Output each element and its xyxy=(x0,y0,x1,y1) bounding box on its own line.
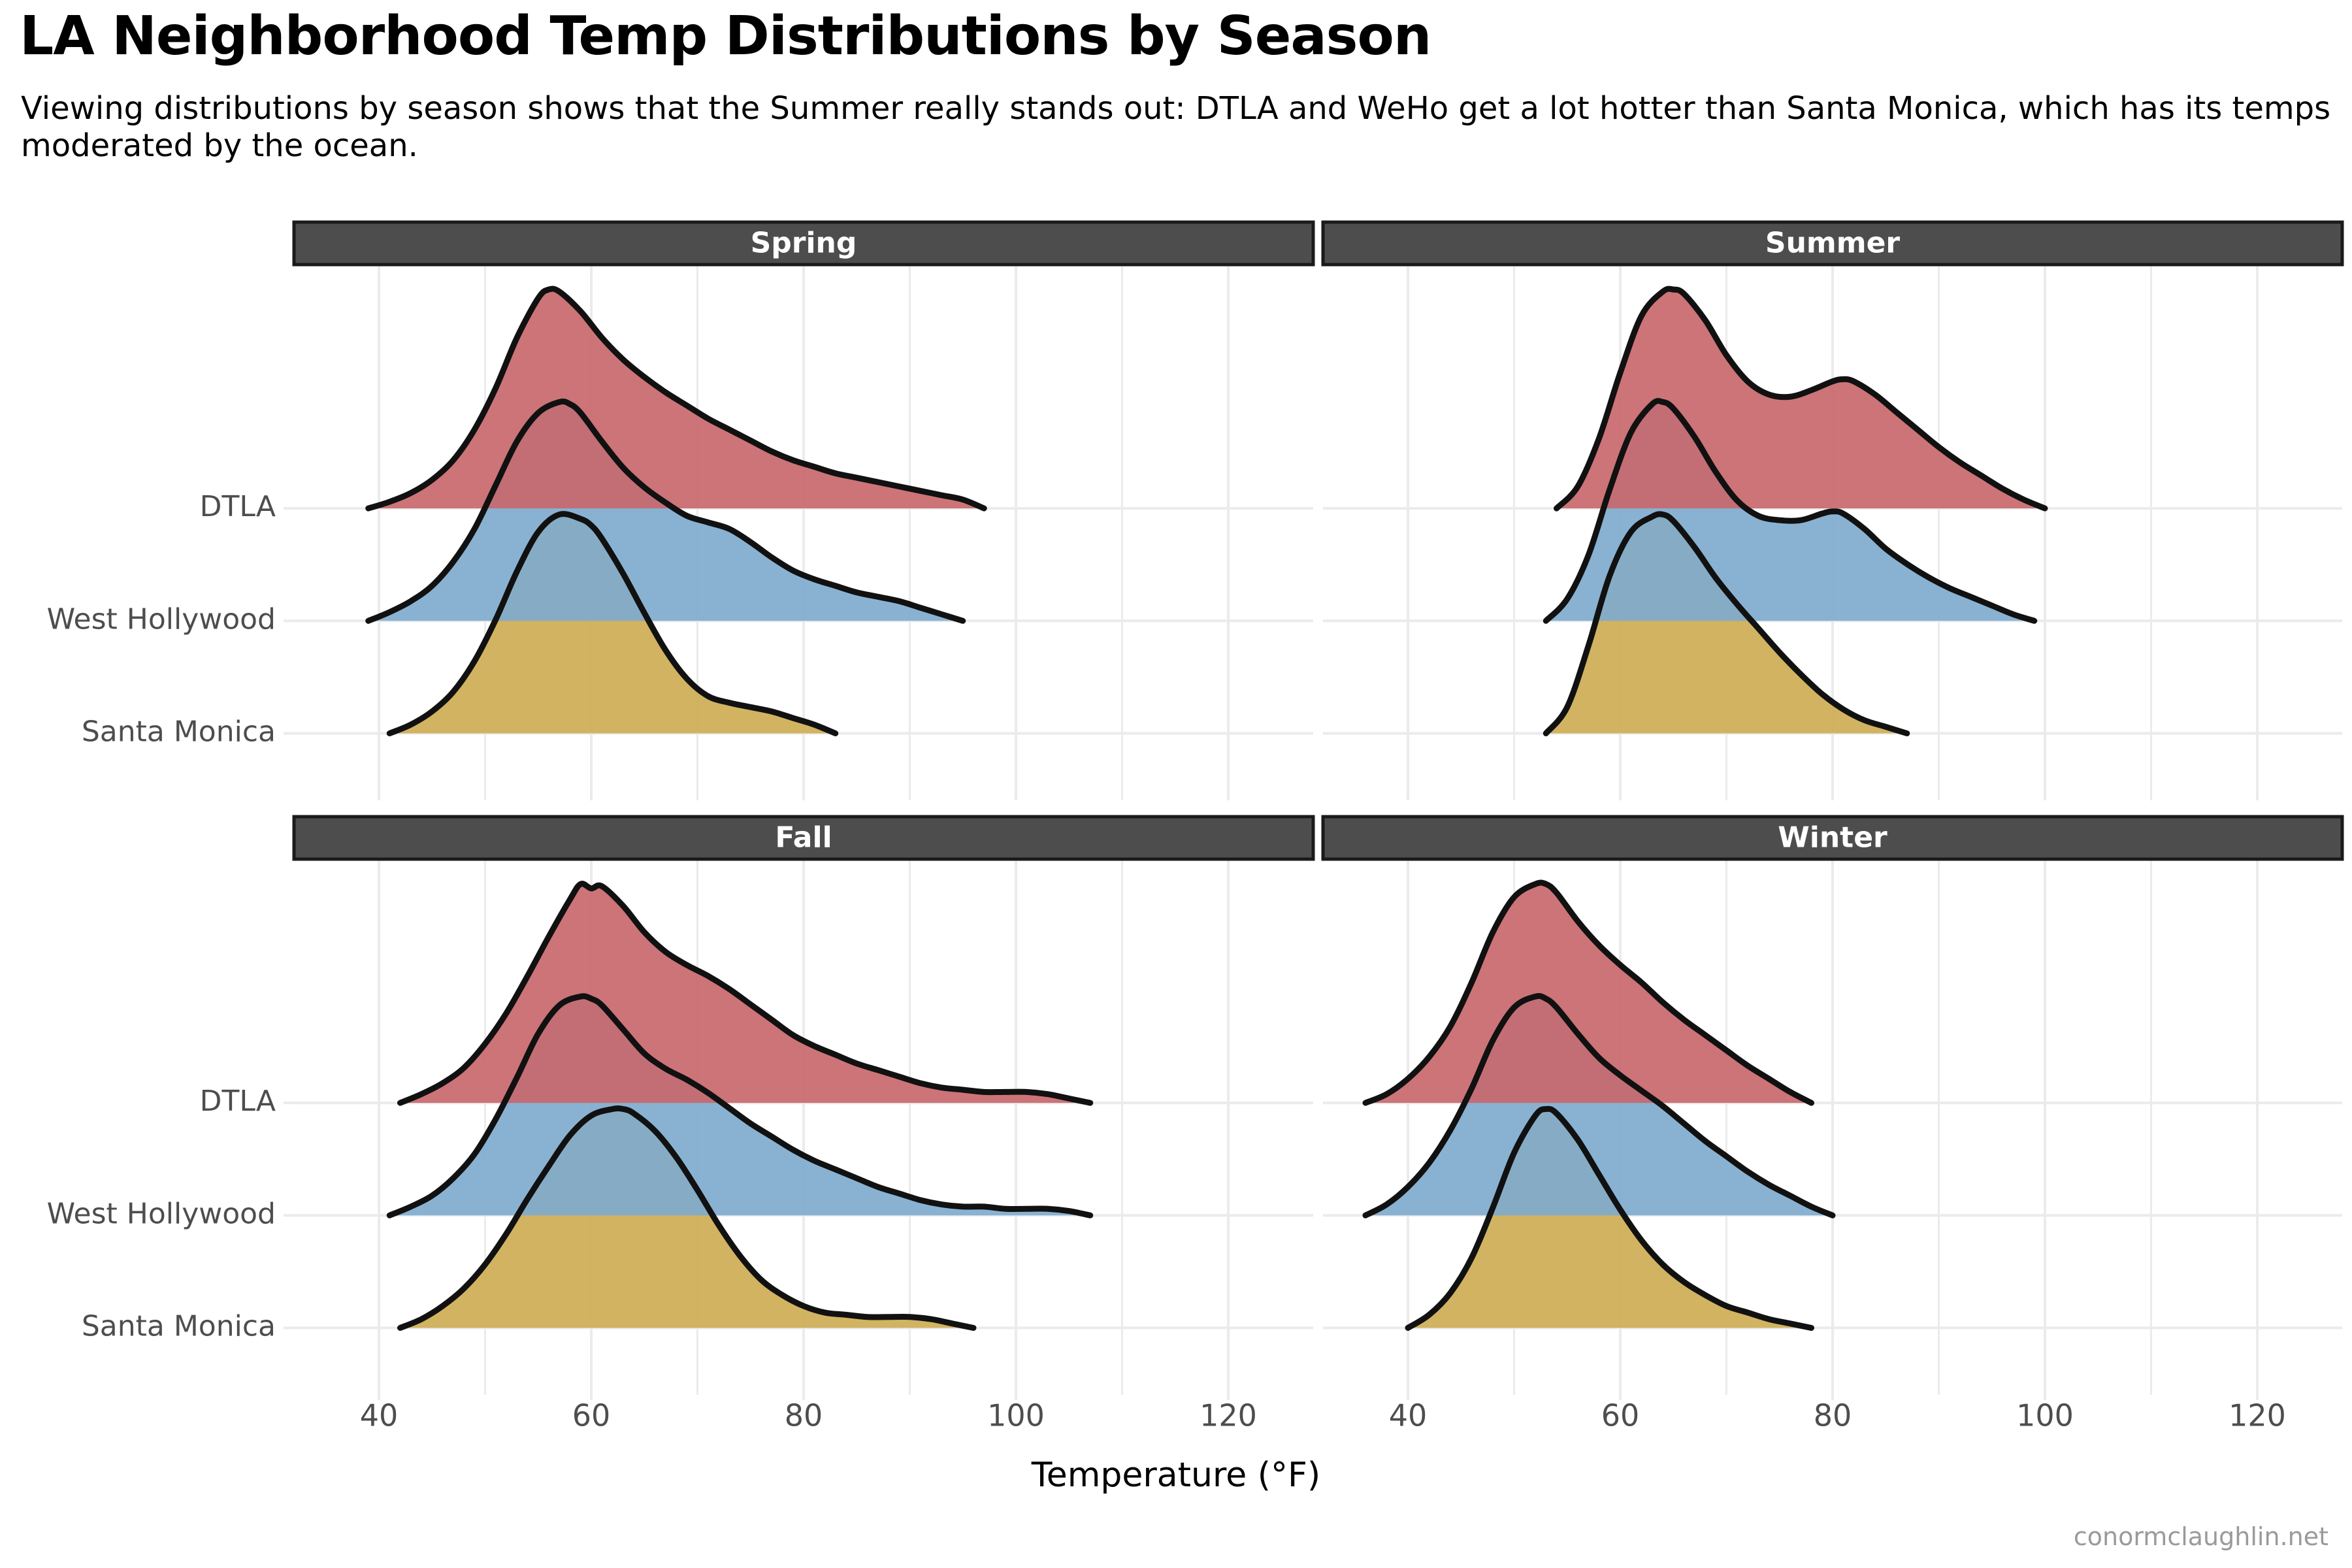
facet-strip-label: Summer xyxy=(1765,227,1901,260)
panel-winter xyxy=(1323,859,2342,1395)
panel-spring xyxy=(294,265,1313,800)
y-axis-tick-west-hollywood: West Hollywood xyxy=(47,1197,276,1230)
panel-fall xyxy=(294,859,1313,1395)
y-axis-tick-west-hollywood: West Hollywood xyxy=(47,602,276,636)
x-axis-tick-120: 120 xyxy=(1200,1397,1257,1433)
facet-strip-fall: Fall xyxy=(294,817,1313,859)
x-axis-tick-60: 60 xyxy=(1601,1397,1640,1433)
facet-strip-spring: Spring xyxy=(294,222,1313,265)
x-axis-tick-40: 40 xyxy=(1389,1397,1428,1433)
x-axis-tick-100: 100 xyxy=(987,1397,1045,1433)
ridgeline-chart-svg: SpringSummerFallWinter DTLAWest Hollywoo… xyxy=(0,0,2352,1568)
facet-strip-label: Winter xyxy=(1778,821,1887,855)
y-axis-tick-dtla: DTLA xyxy=(200,1085,276,1118)
x-axis-title: Temperature (°F) xyxy=(0,1456,2352,1495)
x-axis-tick-120: 120 xyxy=(2229,1397,2286,1433)
x-axis-tick-40: 40 xyxy=(360,1397,399,1433)
facet-strip-label: Spring xyxy=(751,227,857,260)
chart-page: LA Neighborhood Temp Distributions by Se… xyxy=(0,0,2352,1568)
x-axis-tick-80: 80 xyxy=(785,1397,823,1433)
y-axis-tick-dtla: DTLA xyxy=(200,490,276,523)
facet-strip-summer: Summer xyxy=(1323,222,2342,265)
x-axis-tick-100: 100 xyxy=(2016,1397,2074,1433)
x-axis-tick-80: 80 xyxy=(1814,1397,1852,1433)
facet-strip-winter: Winter xyxy=(1323,817,2342,859)
y-axis-tick-santa-monica: Santa Monica xyxy=(82,715,276,749)
x-axis-tick-60: 60 xyxy=(572,1397,611,1433)
facet-strip-label: Fall xyxy=(775,821,832,855)
y-axis-tick-santa-monica: Santa Monica xyxy=(82,1310,276,1343)
watermark: conormclaughlin.net xyxy=(2074,1522,2328,1551)
panel-summer xyxy=(1323,265,2342,800)
